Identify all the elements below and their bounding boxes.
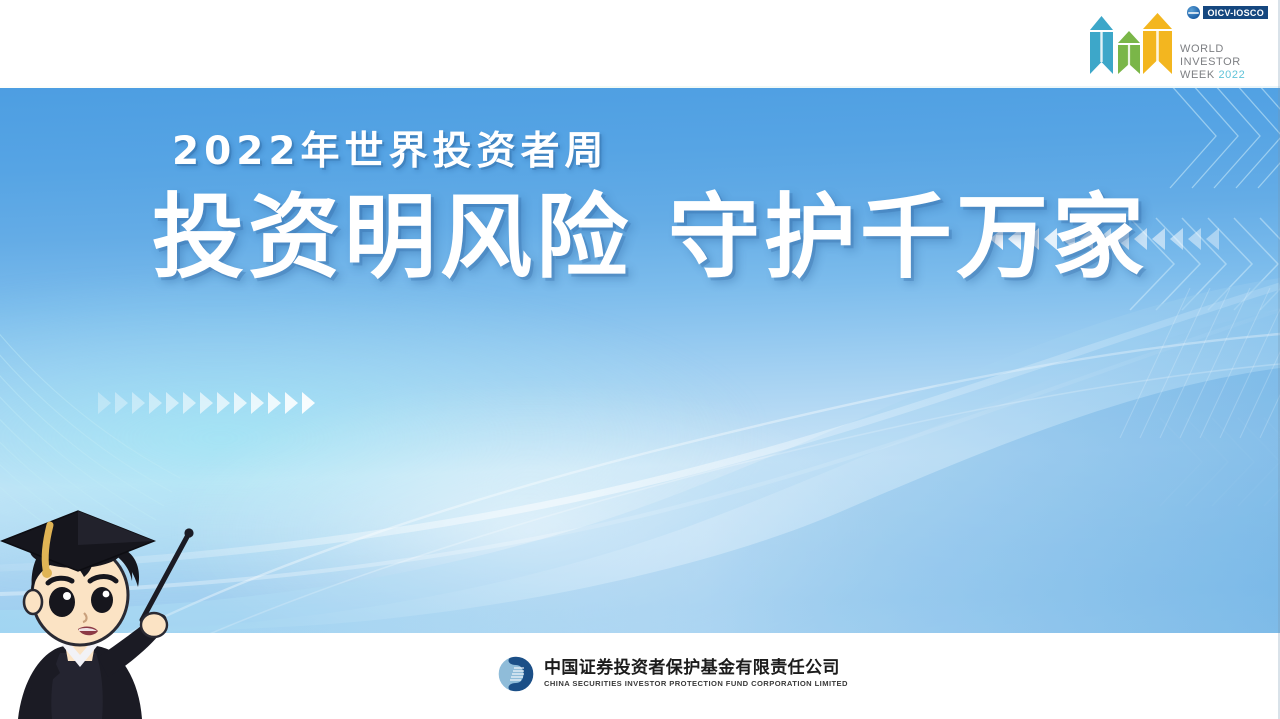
pencil-yellow-icon: [1143, 13, 1172, 74]
csipf-name-en: CHINA SECURITIES INVESTOR PROTECTION FUN…: [544, 680, 848, 689]
wiw-line-week-year: WEEK 2022: [1180, 69, 1268, 82]
wiw-year-label: 2022: [1218, 69, 1245, 81]
mascot-hand: [141, 613, 167, 637]
iosco-wordmark: OICV-IOSCO: [1203, 6, 1268, 19]
banner-subtitle: 2022年世界投资者周: [172, 120, 609, 176]
pencils-svg: [1086, 12, 1172, 84]
csipf-circular-logo-icon: [497, 655, 535, 693]
mascot-eye-left: [49, 587, 75, 617]
banner-title: 投资明风险 守护千万家: [152, 192, 1148, 284]
right-hatch-decoration: [1110, 288, 1280, 438]
pencil-green-icon: [1118, 31, 1140, 74]
wiw-week-label: WEEK: [1180, 69, 1215, 81]
wiw-line-investor: INVESTOR: [1180, 56, 1268, 69]
mascot-ear: [24, 590, 42, 614]
pencil-blue-icon: [1090, 16, 1113, 74]
csipf-name-block: 中国证券投资者保护基金有限责任公司 CHINA SECURITIES INVES…: [544, 659, 848, 689]
csipf-name-cn: 中国证券投资者保护基金有限责任公司: [544, 659, 848, 678]
poster-stage: WORLD INVESTOR WEEK 2022 OICV-IOSCO: [0, 0, 1280, 719]
iosco-logo: OICV-IOSCO: [1187, 6, 1268, 19]
world-investor-week-logo: WORLD INVESTOR WEEK 2022 OICV-IOSCO: [1086, 6, 1268, 84]
wiw-line-world: WORLD: [1180, 43, 1268, 56]
csipf-logo-group: 中国证券投资者保护基金有限责任公司 CHINA SECURITIES INVES…: [497, 655, 848, 693]
wiw-wordmark: WORLD INVESTOR WEEK 2022: [1172, 43, 1268, 84]
iosco-globe-icon: [1187, 6, 1200, 19]
white-glow-decoration: [180, 388, 880, 633]
right-chevron-lines-low-decoration: [1090, 388, 1280, 568]
mascot-svg: [0, 485, 207, 719]
mascot-eye-right: [91, 587, 113, 613]
csipf-logo-svg: [497, 655, 535, 693]
pencils-icon: [1086, 12, 1172, 84]
graduate-professor-mascot: [0, 485, 207, 719]
